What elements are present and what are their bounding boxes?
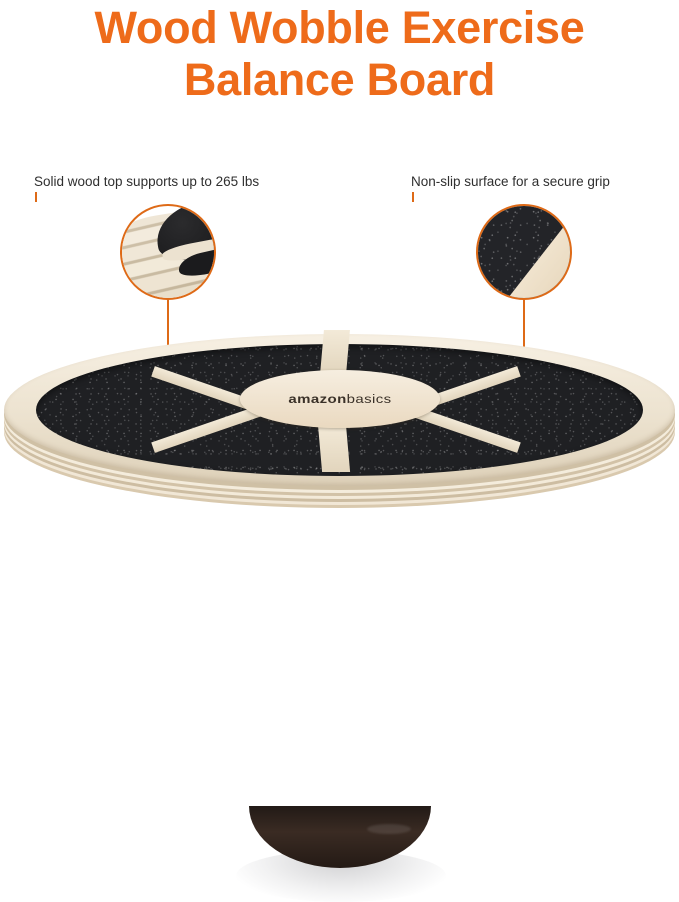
wood-spoke-top <box>320 330 350 374</box>
title-line-1: Wood Wobble Exercise <box>0 2 679 54</box>
page-title: Wood Wobble Exercise Balance Board <box>0 2 679 106</box>
magnifier-circle-solid-wood-top <box>120 204 216 300</box>
wood-edge-wedge <box>478 206 570 298</box>
plywood-edge-detail <box>122 206 214 298</box>
grit-surface-detail <box>478 206 570 298</box>
dome-highlight <box>367 824 411 834</box>
title-line-2: Balance Board <box>0 54 679 106</box>
brand-logo-light: basics <box>347 392 392 406</box>
callout-tick-right <box>412 192 414 202</box>
brand-logo-text: amazonbasics <box>288 392 391 406</box>
magnifier-circle-non-slip-surface <box>476 204 572 300</box>
callout-caption-non-slip-surface: Non-slip surface for a secure grip <box>411 174 610 190</box>
wood-spoke-bottom <box>318 424 350 472</box>
brand-logo-bold: amazon <box>288 392 346 406</box>
callout-tick-left <box>35 192 37 202</box>
center-logo-plate: amazonbasics <box>240 370 440 428</box>
callout-caption-solid-wood-top: Solid wood top supports up to 265 lbs <box>34 174 259 190</box>
